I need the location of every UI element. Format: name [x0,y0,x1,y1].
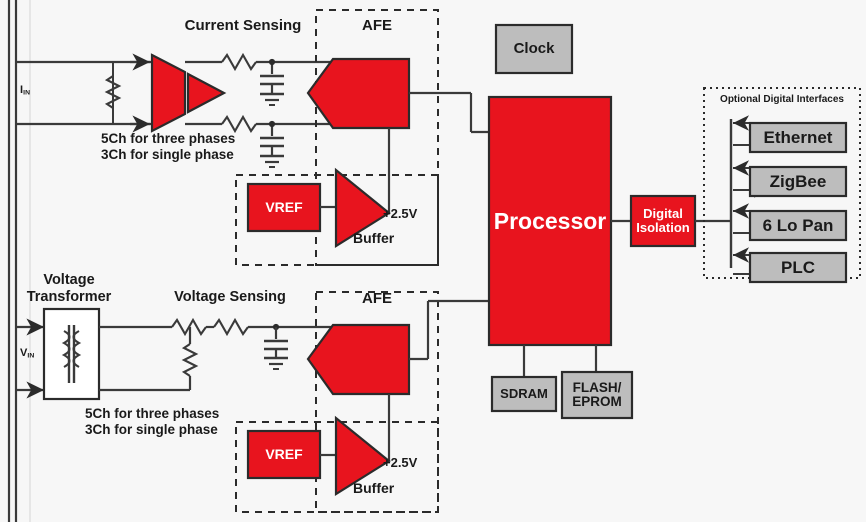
current-amplifier-shape [188,74,224,112]
current-channel-note-line2: 3Ch for single phase [101,147,235,163]
voltage-transformer-line1: Voltage [27,272,112,289]
afe-top-shape [308,59,409,128]
current-input-label: IIN [20,84,30,97]
vref-bottom-label: VREF [248,431,320,478]
voltage-input-label: VIN [20,347,35,360]
processor-label: Processor [489,97,611,345]
wiring-layer [9,0,860,522]
cs-top-resistor-icon [222,55,256,69]
flash-line2: EPROM [572,395,622,409]
buffer-top-label: Buffer [353,230,394,246]
voltage-transformer-box [44,309,99,399]
flash-line1: FLASH/ [573,381,622,395]
vs-resistor-2 [214,320,248,334]
afe-bottom-title: AFE [362,290,392,307]
vref-bottom-voltage-label: +2.5V [383,455,417,470]
voltage-channel-note-line2: 3Ch for single phase [85,422,219,438]
diagram-vector-layer [0,0,866,522]
voltage-transformer-line2: Transformer [27,289,112,306]
sdram-label: SDRAM [492,377,556,411]
voltage-channel-note-line1: 5Ch for three phases [85,406,219,422]
cs-bot-node [269,121,275,127]
afe-bottom-shape [308,325,409,394]
optional-digital-interfaces-title: Optional Digital Interfaces [720,94,844,105]
current-sensing-title: Current Sensing [185,17,302,34]
vref-top-voltage-label: +2.5V [383,206,417,221]
voltage-sensing-title: Voltage Sensing [174,289,286,305]
voltage-channel-note: 5Ch for three phases 3Ch for single phas… [85,406,219,438]
cs-bot-resistor-icon [222,117,256,131]
flash-eprom-label: FLASH/ EPROM [562,372,632,418]
clock-label: Clock [496,25,572,73]
afe-top-dashed-boundary [316,10,438,265]
interface-label-six-lo-pan[interactable]: 6 Lo Pan [750,211,846,240]
voltage-transformer-title: Voltage Transformer [27,272,112,306]
digital-isolation-line1: Digital [643,207,683,221]
digital-isolation-label: Digital Isolation [631,196,695,246]
buffer-bottom-label: Buffer [353,480,394,496]
afe-top-title: AFE [362,17,392,34]
digital-isolation-line2: Isolation [636,221,689,235]
vref-top-label: VREF [248,184,320,231]
cs-top-node [269,59,275,65]
current-channel-note: 5Ch for three phases 3Ch for single phas… [101,131,235,163]
current-channel-note-line1: 5Ch for three phases [101,131,235,147]
interface-label-zigbee[interactable]: ZigBee [750,167,846,196]
vs-divider-resistor [184,344,196,376]
block-diagram-canvas: IIN VIN Current Sensing AFE 5Ch for thre… [0,0,866,522]
interface-label-plc[interactable]: PLC [750,253,846,282]
current-transformer-shape [152,55,185,131]
interface-label-ethernet[interactable]: Ethernet [750,123,846,152]
